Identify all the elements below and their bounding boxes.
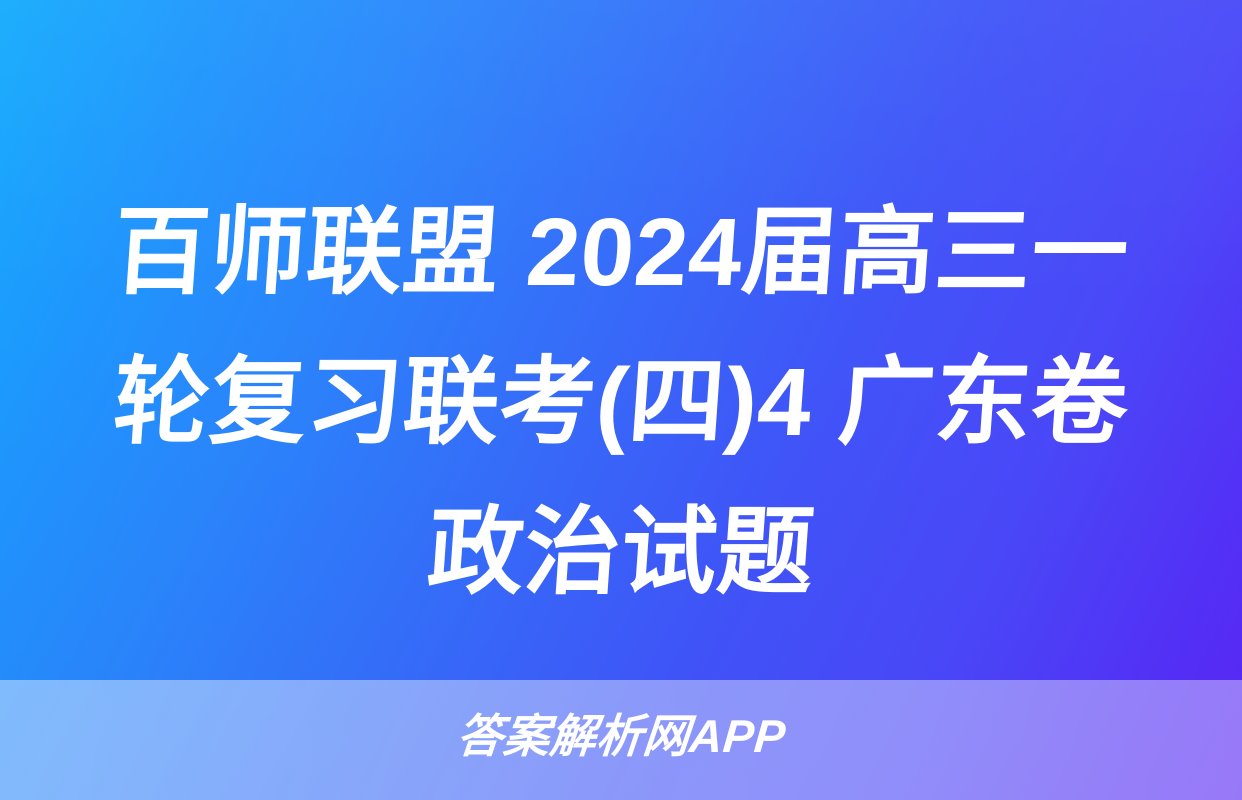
title-line-3: 政治试题 [61, 478, 1181, 628]
page-title: 百师联盟 2024届高三一 轮复习联考(四)4 广东卷 政治试题 [0, 178, 1242, 628]
title-line-2: 轮复习联考(四)4 广东卷 [61, 328, 1181, 478]
watermark-label: 答案解析网APP [455, 713, 788, 759]
title-line-1: 百师联盟 2024届高三一 [61, 178, 1181, 328]
watermark-band: 答案解析网APP [0, 680, 1242, 800]
exam-cover-banner: 百师联盟 2024届高三一 轮复习联考(四)4 广东卷 政治试题 答案解析网AP… [0, 0, 1242, 800]
